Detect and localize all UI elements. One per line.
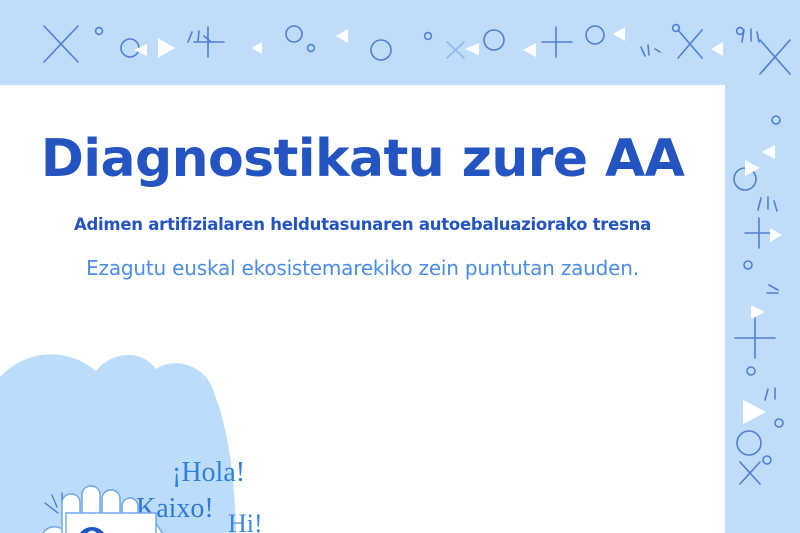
hand-holding-id-card-illustration [0, 445, 260, 533]
banner-root: Diagnostikatu zure AA Adimen artifiziala… [0, 0, 800, 533]
page-tagline: Ezagutu euskal ekosistemarekiko zein pun… [0, 256, 725, 280]
headline-block: Diagnostikatu zure AA Adimen artifiziala… [0, 85, 725, 280]
page-subtitle: Adimen artifizialaren heldutasunaren aut… [0, 215, 725, 234]
page-title: Diagnostikatu zure AA [0, 132, 725, 187]
content-panel: Diagnostikatu zure AA Adimen artifiziala… [0, 85, 725, 533]
